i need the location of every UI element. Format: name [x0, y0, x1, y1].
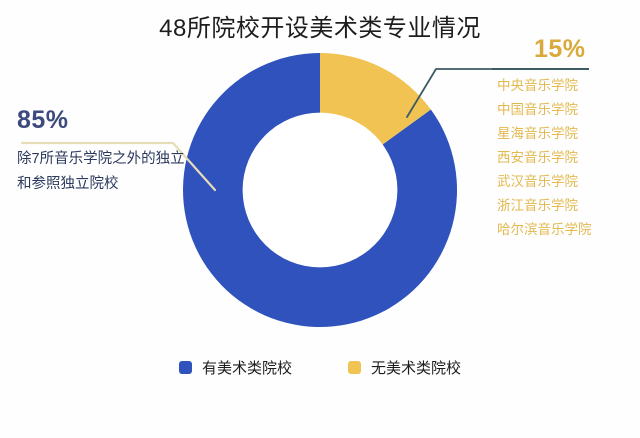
annotation-right: 15% 中央音乐学院 中国音乐学院 星海音乐学院 西安音乐学院 武汉音乐学院 浙…	[492, 36, 640, 247]
conservatory-list: 中央音乐学院 中国音乐学院 星海音乐学院 西安音乐学院 武汉音乐学院 浙江音乐学…	[492, 79, 640, 237]
left-description-text: 除7所音乐学院之外的独立和参照独立院校	[17, 147, 189, 198]
list-item: 武汉音乐学院	[497, 175, 640, 189]
right-percent-label: 15%	[492, 36, 640, 64]
list-item: 浙江音乐学院	[497, 199, 640, 213]
left-percent-label: 85%	[17, 107, 207, 135]
legend-swatch-blue	[179, 361, 192, 374]
right-divider-rule	[492, 68, 589, 71]
annotation-left: 85% 除7所音乐学院之外的独立和参照独立院校	[17, 107, 207, 197]
legend-label-no-art: 无美术类院校	[371, 357, 461, 378]
list-item: 哈尔滨音乐学院	[497, 223, 640, 237]
chart-legend: 有美术类院校 无美术类院校	[0, 357, 640, 378]
legend-label-has-art: 有美术类院校	[202, 357, 292, 378]
donut-svg	[181, 51, 459, 329]
legend-swatch-yellow	[348, 361, 361, 374]
donut-center-hole	[243, 113, 398, 268]
list-item: 西安音乐学院	[497, 151, 640, 165]
legend-entry-has-art[interactable]: 有美术类院校	[179, 357, 292, 378]
donut-chart	[181, 51, 459, 329]
list-item: 中国音乐学院	[497, 103, 640, 117]
list-item: 中央音乐学院	[497, 79, 640, 93]
chart-canvas: 48所院校开设美术类专业情况 85% 除7所音乐学院之外的独立和参照独立院校 1…	[0, 0, 640, 438]
legend-entry-no-art[interactable]: 无美术类院校	[348, 357, 461, 378]
list-item: 星海音乐学院	[497, 127, 640, 141]
